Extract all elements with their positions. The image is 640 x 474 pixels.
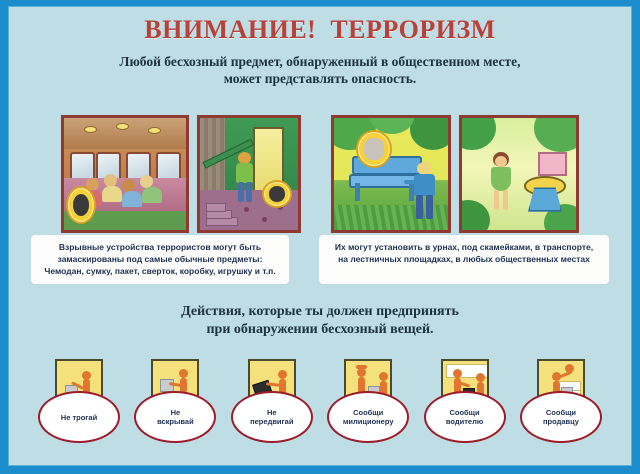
girl-leg — [494, 190, 499, 210]
subtitle-line-2: может представлять опасность. — [27, 70, 613, 87]
badge-label-line-2: передвигай — [246, 417, 297, 426]
girl-dress — [491, 167, 511, 191]
tree-foliage — [534, 115, 579, 152]
driver-head — [453, 369, 462, 378]
action-do-not-move[interactable]: Не передвигай — [228, 359, 316, 443]
suspicious-object-highlight-icon — [356, 130, 392, 168]
badge-label: Не трогай — [53, 413, 105, 422]
boy-leg — [416, 195, 423, 219]
girl-leg — [503, 190, 508, 210]
badge-label-line-1: Сообщи — [339, 408, 398, 417]
passenger-body — [142, 187, 162, 203]
photo-row — [9, 115, 631, 233]
girl-figure — [488, 152, 516, 218]
photo-park-bench-with-toy — [331, 115, 451, 233]
caption-left-line-3: Чемодан, сумку, пакет, сверток, коробку,… — [39, 265, 281, 277]
tree-foliage — [410, 115, 451, 150]
action-row: Не трогай — [17, 359, 623, 466]
toy-bear — [364, 138, 385, 160]
person-head — [476, 373, 485, 382]
stair-step — [206, 203, 226, 212]
person-head — [379, 372, 388, 381]
badge-label-line-1: Не — [153, 408, 198, 417]
passenger-body — [122, 191, 142, 207]
suspicious-bag — [73, 194, 90, 216]
caption-right-line-1: Их могут установить в урнах, под скамейк… — [327, 241, 601, 253]
suspicious-package — [269, 186, 286, 201]
boy-torso — [414, 174, 435, 196]
boy-leg — [426, 195, 433, 219]
boy-leg — [238, 182, 244, 202]
action-do-not-touch[interactable]: Не трогай — [35, 359, 123, 443]
floor-dot — [262, 217, 267, 222]
tree-foliage — [459, 200, 490, 233]
badge-label-line-2: водителю — [442, 417, 487, 426]
suspicious-object-highlight-icon — [262, 180, 292, 208]
seller-figure — [563, 364, 579, 380]
badge-do-not-touch[interactable]: Не трогай — [38, 391, 120, 443]
passenger-body — [102, 186, 122, 202]
mid-heading-line-1: Действия, которые ты должен предпринять — [9, 303, 631, 321]
badge-label-line-1: Сообщи — [442, 408, 487, 417]
photo-train-interior-with-bag — [61, 115, 189, 233]
train-lamp — [84, 126, 97, 133]
person-head — [278, 370, 287, 379]
caption-right-line-2: на лестничных площадках, в любых обществ… — [327, 253, 601, 265]
boy-arm — [404, 180, 418, 184]
suspicious-object-highlight-icon — [66, 186, 96, 224]
subtitle-line-1: Любой бесхозный предмет, обнаруженный в … — [27, 53, 613, 70]
photo-stairwell-with-boy — [197, 115, 301, 233]
train-lamp — [116, 123, 129, 130]
policeman-head — [357, 368, 366, 377]
badge-tell-seller[interactable]: Сообщи продавцу — [520, 391, 602, 443]
poster-inner-panel: ВНИМАНИЕ! ТЕРРОРИЗМ Любой бесхозный пред… — [8, 6, 632, 466]
boy-torso — [236, 163, 253, 183]
action-tell-seller[interactable]: Сообщи продавцу — [517, 359, 605, 443]
badge-label: Сообщи продавцу — [535, 408, 587, 426]
photo-group-right — [331, 115, 579, 233]
photo-group-left — [61, 115, 301, 233]
caption-right: Их могут установить в урнах, под скамейк… — [319, 235, 609, 284]
caption-row: Взрывные устройства террористов могут бы… — [9, 235, 631, 284]
action-tell-policeman[interactable]: Сообщи милиционеру — [324, 359, 412, 443]
policeman-cap — [356, 365, 367, 369]
boy-figure — [234, 152, 256, 208]
badge-label: Сообщи милиционеру — [335, 408, 402, 426]
girl-head — [495, 156, 507, 167]
badge-do-not-move[interactable]: Не передвигай — [231, 391, 313, 443]
badge-label-line-1: Сообщи — [539, 408, 583, 417]
person-head — [179, 369, 188, 378]
photo-girl-near-bin — [459, 115, 579, 233]
suspicious-package — [538, 152, 567, 176]
page-title: ВНИМАНИЕ! ТЕРРОРИЗМ — [9, 15, 631, 45]
badge-label-line-2: милиционеру — [339, 417, 398, 426]
action-tell-driver[interactable]: Сообщи водителю — [421, 359, 509, 443]
badge-label-line-2: продавцу — [539, 417, 583, 426]
badge-label-line-1: Не — [246, 408, 297, 417]
badge-label: Не передвигай — [242, 408, 301, 426]
badge-label: Не вскрывай — [149, 408, 202, 426]
poster-root: ВНИМАНИЕ! ТЕРРОРИЗМ Любой бесхозный пред… — [0, 0, 640, 474]
section-heading-actions: Действия, которые ты должен предпринять … — [9, 303, 631, 339]
badge-tell-driver[interactable]: Сообщи водителю — [424, 391, 506, 443]
badge-tell-policeman[interactable]: Сообщи милиционеру — [327, 391, 409, 443]
badge-label-line-2: вскрывай — [153, 417, 198, 426]
caption-left: Взрывные устройства террористов могут бы… — [31, 235, 289, 284]
badge-do-not-open[interactable]: Не вскрывай — [134, 391, 216, 443]
badge-label-line-1: Не трогай — [57, 413, 101, 422]
caption-left-line-2: замаскированы под самые обычные предметы… — [39, 253, 281, 265]
boy-leg — [246, 182, 252, 202]
tree-foliage — [459, 115, 496, 150]
action-do-not-open[interactable]: Не вскрывай — [131, 359, 219, 443]
bench-leg — [355, 183, 360, 201]
badge-label: Сообщи водителю — [438, 408, 491, 426]
caption-left-line-1: Взрывные устройства террористов могут бы… — [39, 241, 281, 253]
boy-figure — [412, 162, 438, 224]
mid-heading-line-2: при обнаружении бесхозный вещей. — [9, 321, 631, 339]
train-lamp — [148, 127, 161, 134]
poster-subtitle: Любой бесхозный предмет, обнаруженный в … — [27, 53, 613, 87]
